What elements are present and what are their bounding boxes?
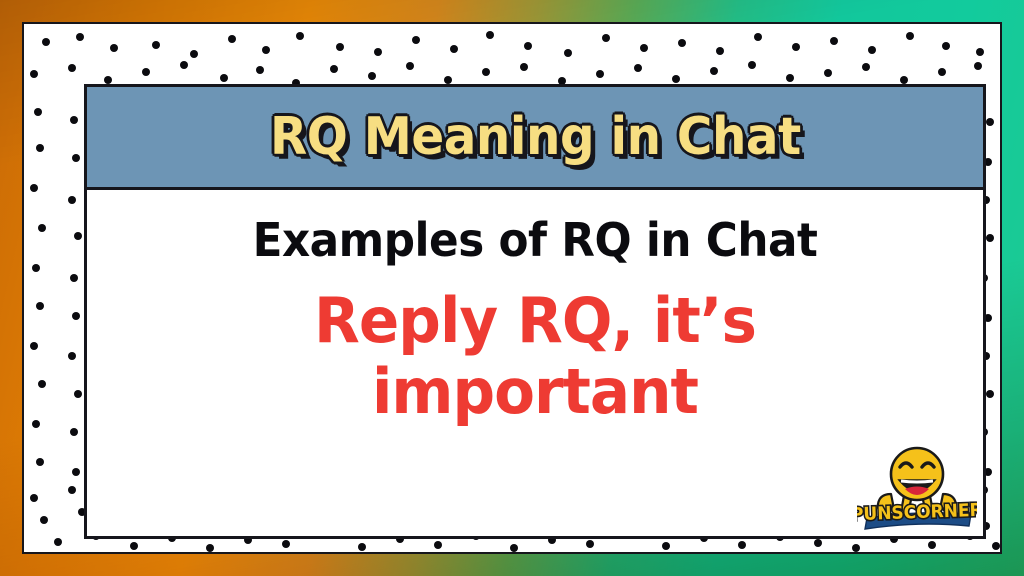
polka-dot [986,390,994,398]
polka-dot [262,46,270,54]
polka-dot [42,38,50,46]
polka-dot [36,302,44,310]
polka-dot [36,458,44,466]
polka-dot [634,64,642,72]
polka-dot [104,76,112,84]
polka-dot [30,184,38,192]
polka-dot [852,544,860,552]
brand-logo: PUNSCORNER [857,442,977,534]
section-heading: Examples of RQ in Chat [142,216,929,264]
polka-dot [296,32,304,40]
polka-dot [434,541,442,549]
polka-dot [824,69,832,77]
poster-canvas: RQ Meaning in Chat Examples of RQ in Cha… [0,0,1024,576]
polka-dot [374,48,382,56]
poster-title-bar: RQ Meaning in Chat [87,87,983,190]
punscorner-logo-icon: PUNSCORNER [857,442,977,534]
polka-dot [640,44,648,52]
polka-dot [34,108,42,116]
polka-dot [330,65,338,73]
polka-dot [564,49,572,57]
polka-dot [830,37,838,45]
polka-dot [710,67,718,75]
polka-dot [32,420,40,428]
poster-inner-box: RQ Meaning in Chat Examples of RQ in Cha… [84,84,986,539]
polka-dot [586,540,594,548]
polka-dot [748,61,756,69]
example-message-text: Reply RQ, it’s important [237,286,832,427]
polka-dot [74,232,82,240]
polka-dot [228,35,236,43]
polka-dot [992,542,1000,550]
polka-dot [942,42,950,50]
polka-dot [70,428,78,436]
polka-dot [406,62,414,70]
polka-dot [814,539,822,547]
polka-dot [596,70,604,78]
polka-dot [76,33,84,41]
polka-dot [72,312,80,320]
polka-dot [220,74,228,82]
polka-dot [868,46,876,54]
polka-dot [412,36,420,44]
polka-dot [180,61,188,69]
polka-dot [754,33,762,41]
polka-dot [900,76,908,84]
polka-dot [190,50,198,58]
polka-dot [130,542,138,550]
polka-dot [662,542,670,550]
polka-dot [32,264,40,272]
poster-body: Examples of RQ in Chat Reply RQ, it’s im… [87,190,983,536]
polka-dot [906,32,914,40]
polka-dot [30,70,38,78]
polka-dot [938,68,946,76]
polka-dot [54,538,62,546]
polka-dot [142,68,150,76]
polka-dot [68,196,76,204]
polka-dot [486,31,494,39]
polka-dot [256,66,264,74]
polka-dot [40,516,48,524]
polka-dot [786,74,794,82]
polka-dot [672,75,680,83]
polka-dot [524,42,532,50]
polka-dot [928,541,936,549]
polka-dot [444,76,452,84]
polka-dot [482,68,490,76]
polka-dot [450,45,458,53]
polka-dot [68,64,76,72]
polka-dot [738,541,746,549]
polka-dot [986,118,994,126]
polka-dot [862,63,870,71]
polka-dot [70,274,78,282]
polka-dot [792,43,800,51]
polka-dot [986,234,994,242]
polka-dot [510,544,518,552]
polka-dot [72,468,80,476]
polka-dot [68,352,76,360]
polka-dot [38,224,46,232]
polka-dot [368,72,376,80]
polka-dot [68,486,76,494]
polka-dot [30,342,38,350]
polka-dot [336,43,344,51]
polka-dot [30,494,38,502]
polka-dot [282,540,290,548]
polka-dot [74,390,82,398]
polka-dot [70,116,78,124]
polka-dot-card: RQ Meaning in Chat Examples of RQ in Cha… [22,22,1002,554]
polka-dot [520,63,528,71]
polka-dot [110,44,118,52]
polka-dot [72,154,80,162]
polka-dot [716,47,724,55]
polka-dot [206,544,214,552]
polka-dot [976,48,984,56]
brand-name: PUNSCORNER [857,500,977,525]
polka-dot [358,543,366,551]
polka-dot [152,41,160,49]
polka-dot [602,34,610,42]
page-title: RQ Meaning in Chat [270,111,801,163]
polka-dot [36,144,44,152]
polka-dot [974,62,982,70]
polka-dot [678,39,686,47]
polka-dot [38,380,46,388]
